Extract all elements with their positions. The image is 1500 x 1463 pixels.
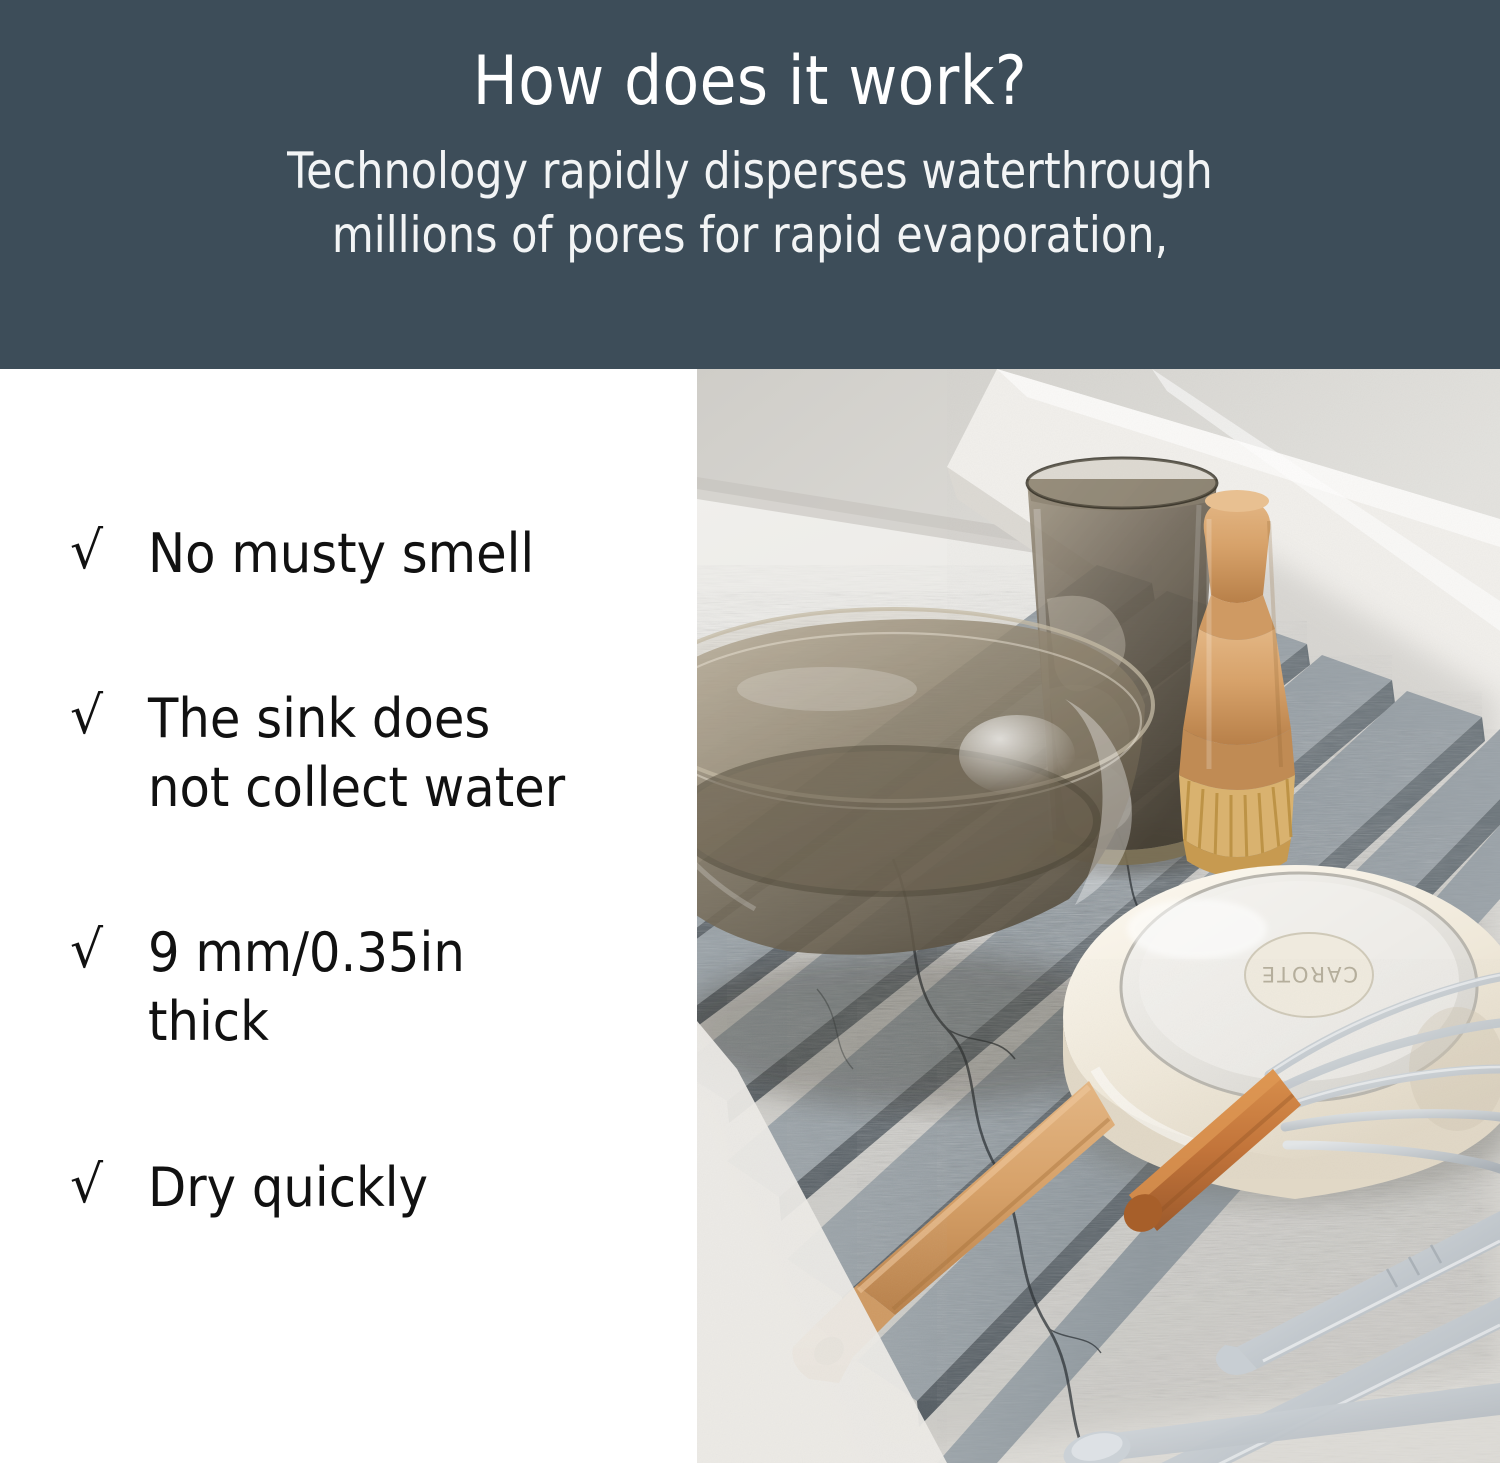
list-item: √ The sink does not collect water [70, 684, 677, 822]
feature-list: √ No musty smell √ The sink does not col… [0, 369, 697, 1463]
check-icon: √ [70, 684, 148, 742]
feature-label: 9 mm/0.35in thick [148, 918, 465, 1056]
product-photo-illustration: CAROTE [697, 369, 1500, 1463]
check-icon: √ [70, 918, 148, 976]
list-item: √ No musty smell [70, 519, 677, 588]
photo-scene: CAROTE [697, 369, 1500, 1463]
feature-label: Dry quickly [148, 1153, 428, 1222]
header-band: How does it work? Technology rapidly dis… [0, 0, 1500, 369]
check-icon: √ [70, 519, 148, 577]
page-title: How does it work? [473, 46, 1027, 117]
list-item: √ Dry quickly [70, 1153, 677, 1222]
product-photo: CAROTE [697, 369, 1500, 1463]
feature-label: No musty smell [148, 519, 534, 588]
feature-label: The sink does not collect water [148, 684, 565, 822]
brush-bristles [1179, 775, 1295, 877]
list-item: √ 9 mm/0.35in thick [70, 918, 677, 1056]
check-icon: √ [70, 1153, 148, 1211]
page-subtitle: Technology rapidly disperses waterthroug… [234, 139, 1266, 267]
